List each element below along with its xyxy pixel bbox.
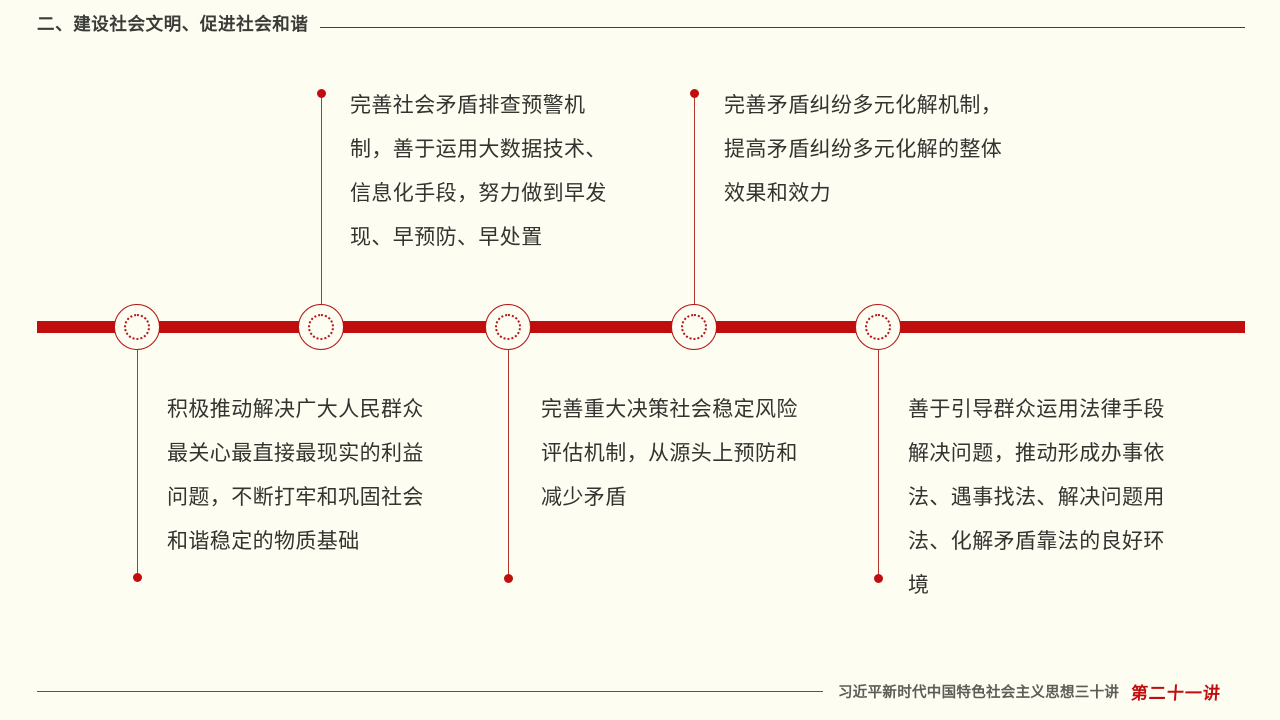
slide-root: 二、建设社会文明、促进社会和谐 完善社会矛盾排查预警机制，善于运用大数据技术、信… bbox=[0, 0, 1280, 720]
timeline-bar bbox=[37, 321, 1245, 333]
header-divider bbox=[320, 27, 1245, 28]
slide-header: 二、建设社会文明、促进社会和谐 bbox=[0, 0, 1280, 56]
node-dotted-ring-icon bbox=[495, 314, 521, 340]
timeline-text-1: 积极推动解决广大人民群众最关心最直接最现实的利益问题，不断打牢和巩固社会和谐稳定… bbox=[167, 388, 433, 564]
node-dotted-ring-icon bbox=[308, 314, 334, 340]
timeline-text-4: 完善矛盾纠纷多元化解机制，提高矛盾纠纷多元化解的整体效果和效力 bbox=[724, 84, 1006, 216]
node-dotted-ring-icon bbox=[124, 314, 150, 340]
slide-footer: 习近平新时代中国特色社会主义思想三十讲 第二十一讲 bbox=[838, 678, 1221, 704]
node-dotted-ring-icon bbox=[681, 314, 707, 340]
connector-line-1 bbox=[137, 350, 138, 578]
timeline-text-3: 完善重大决策社会稳定风险评估机制，从源头上预防和减少矛盾 bbox=[541, 388, 801, 520]
page-title: 二、建设社会文明、促进社会和谐 bbox=[37, 13, 309, 35]
timeline-text-2: 完善社会矛盾排查预警机制，善于运用大数据技术、信息化手段，努力做到早发现、早预防… bbox=[350, 84, 618, 260]
connector-dot-3 bbox=[504, 574, 513, 583]
connector-dot-5 bbox=[874, 574, 883, 583]
timeline-node-2[interactable] bbox=[298, 304, 344, 350]
node-dotted-ring-icon bbox=[865, 314, 891, 340]
footer-divider bbox=[37, 691, 823, 692]
connector-line-3 bbox=[508, 350, 509, 578]
connector-dot-4 bbox=[690, 89, 699, 98]
connector-line-2 bbox=[321, 96, 322, 304]
timeline-node-1[interactable] bbox=[114, 304, 160, 350]
connector-line-4 bbox=[694, 96, 695, 304]
timeline-node-4[interactable] bbox=[671, 304, 717, 350]
footer-lecture-label: 第二十一讲 bbox=[1130, 679, 1222, 704]
connector-dot-2 bbox=[317, 89, 326, 98]
timeline-node-3[interactable] bbox=[485, 304, 531, 350]
connector-line-5 bbox=[878, 350, 879, 578]
timeline-text-5: 善于引导群众运用法律手段解决问题，推动形成办事依法、遇事找法、解决问题用法、化解… bbox=[908, 388, 1176, 608]
connector-dot-1 bbox=[133, 573, 142, 582]
timeline-node-5[interactable] bbox=[855, 304, 901, 350]
footer-series-label: 习近平新时代中国特色社会主义思想三十讲 bbox=[838, 681, 1119, 702]
